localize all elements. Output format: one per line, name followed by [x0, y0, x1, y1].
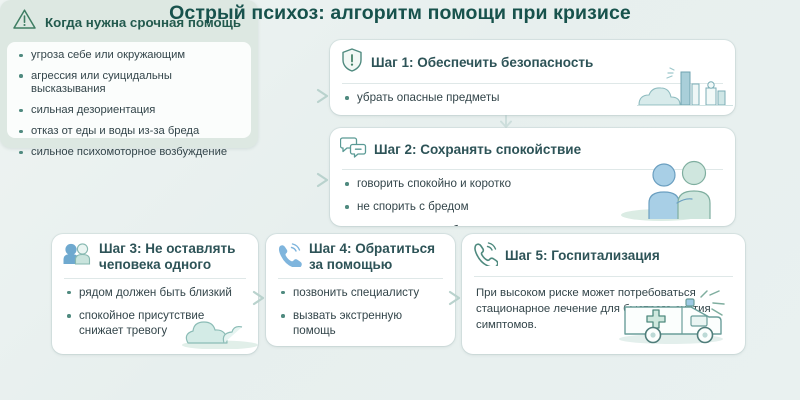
step-card-1: Шаг 1: Обеспечить безопасность убрать оп… [330, 40, 735, 115]
phone-signal-icon [472, 241, 498, 271]
list-item: отказ от еды и воды из-за бреда [19, 125, 241, 138]
step-3-list: рядом должен быть близкий спокойное прис… [52, 279, 258, 346]
list-item: рядом должен быть близкий [66, 286, 246, 300]
list-item: ограничить доступ к окнам и лекарствам [344, 114, 723, 115]
step-1-header: Шаг 1: Обеспечить безопасность [330, 40, 735, 83]
list-item: не спорить с бредом [344, 200, 723, 214]
step-card-4: Шаг 4: Обратиться за помощью позвонить с… [266, 234, 455, 346]
step-4-heading: Шаг 4: Обратиться за помощью [309, 241, 445, 273]
list-item: вызвать экстренную помощь [280, 309, 443, 338]
step-1-heading: Шаг 1: Обеспечить безопасность [371, 55, 593, 71]
list-item: сильная дезориентация [19, 104, 241, 117]
list-item: позвонить специалисту [280, 286, 443, 300]
list-item: убрать опасные предметы [344, 91, 723, 105]
warning-card-list-panel: угроза себе или окружающим агрессия или … [7, 42, 251, 138]
list-item: говорить спокойно и коротко [344, 177, 723, 191]
list-item: агрессия или суицидальны высказывания [19, 70, 241, 97]
list-item: сильное психомоторное возбуждение [19, 146, 241, 159]
step-3-header: Шаг 3: Не оставлять чеповека одного [52, 234, 258, 278]
step-4-header: Шаг 4: Обратиться за помощью [266, 234, 455, 278]
list-item: спокойное присутствие снижает тревогу [66, 309, 246, 338]
step-5-header: Шаг 5: Госпитализация [462, 234, 745, 276]
list-item: не подтверждать бредовые идеи [344, 224, 723, 226]
step-card-3: Шаг 3: Не оставлять чеповека одного рядо… [52, 234, 258, 354]
step-card-2: Шаг 2: Сохранять спокойствие говорить сп… [330, 128, 735, 226]
infographic-canvas: Острый психоз: алгоритм помощи при кризи… [0, 0, 800, 400]
two-persons-icon [62, 242, 92, 271]
step-2-heading: Шаг 2: Сохранять спокойствие [374, 142, 581, 158]
step-3-heading: Шаг 3: Не оставлять чеповека одного [99, 241, 248, 273]
page-title: Острый психоз: алгоритм помощи при кризи… [0, 2, 800, 25]
step-card-5: Шаг 5: Госпитализация При высоком риске … [462, 234, 745, 354]
step-5-heading: Шаг 5: Госпитализация [505, 248, 660, 264]
shield-exclamation-icon [340, 47, 364, 78]
step-2-list: говорить спокойно и коротко не спорить с… [330, 170, 735, 226]
phone-signal-icon [276, 242, 302, 272]
step-2-header: Шаг 2: Сохранять спокойствие [330, 128, 735, 169]
step-4-list: позвонить специалисту вызвать экстренную… [266, 279, 455, 346]
list-item: угроза себе или окружающим [19, 49, 241, 62]
step-1-list: убрать опасные предметы ограничить досту… [330, 84, 735, 115]
step-5-paragraph: При высоком риске может потребоваться ст… [462, 277, 745, 334]
warning-card-list: угроза себе или окружающим агрессия или … [19, 49, 241, 160]
speech-bubbles-icon [340, 135, 367, 164]
